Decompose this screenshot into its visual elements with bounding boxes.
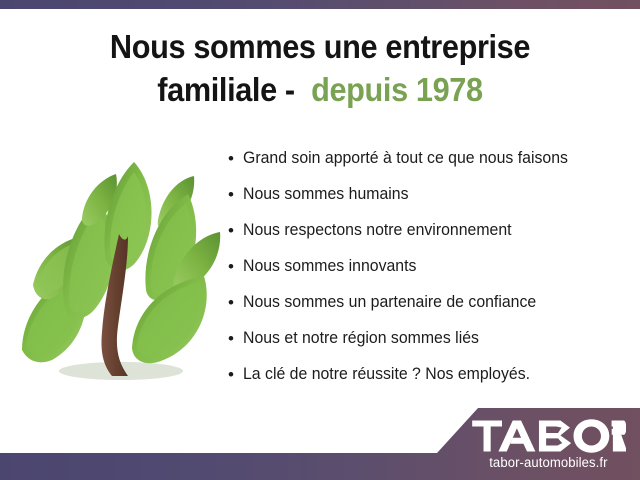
list-item-label: Nous et notre région sommes liés xyxy=(243,328,479,349)
list-item: • Nous sommes humains xyxy=(228,184,628,220)
list-item-label: Nous sommes innovants xyxy=(243,256,416,277)
value-list: • Grand soin apporté à tout ce que nous … xyxy=(228,148,628,400)
list-item: • Grand soin apporté à tout ce que nous … xyxy=(228,148,628,184)
brand-logo: tabor-automobiles.fr xyxy=(466,419,626,470)
tabor-wordmark-icon xyxy=(471,419,626,453)
list-item: • La clé de notre réussite ? Nos employé… xyxy=(228,364,628,400)
slide-canvas: Nous sommes une entreprise familiale - d… xyxy=(0,0,640,480)
bullet-marker-icon: • xyxy=(228,328,243,349)
bullet-marker-icon: • xyxy=(228,184,243,205)
bullet-marker-icon: • xyxy=(228,292,243,313)
list-item: • Nous et notre région sommes liés xyxy=(228,328,628,364)
list-item-label: Grand soin apporté à tout ce que nous fa… xyxy=(243,148,568,169)
headline-line-1: Nous sommes une entreprise xyxy=(22,26,617,69)
list-item: • Nous respectons notre environnement xyxy=(228,220,628,256)
headline-accent: depuis 1978 xyxy=(311,71,483,108)
headline-line-2: familiale - depuis 1978 xyxy=(22,69,617,112)
brand-tagline: tabor-automobiles.fr xyxy=(471,455,626,470)
tree-illustration xyxy=(8,150,238,390)
list-item-label: Nous sommes un partenaire de confiance xyxy=(243,292,536,313)
list-item: • Nous sommes un partenaire de confiance xyxy=(228,292,628,328)
top-accent-bar xyxy=(0,0,640,9)
bullet-marker-icon: • xyxy=(228,148,243,169)
list-item-label: Nous sommes humains xyxy=(243,184,409,205)
headline-plain: familiale - xyxy=(157,71,294,108)
list-item-label: La clé de notre réussite ? Nos employés. xyxy=(243,364,530,385)
bullet-marker-icon: • xyxy=(228,256,243,277)
list-item: • Nous sommes innovants xyxy=(228,256,628,292)
leaf-group xyxy=(132,276,207,363)
bullet-marker-icon: • xyxy=(228,364,243,385)
list-item-label: Nous respectons notre environnement xyxy=(243,220,512,241)
page-title: Nous sommes une entreprise familiale - d… xyxy=(22,26,617,112)
bullet-marker-icon: • xyxy=(228,220,243,241)
